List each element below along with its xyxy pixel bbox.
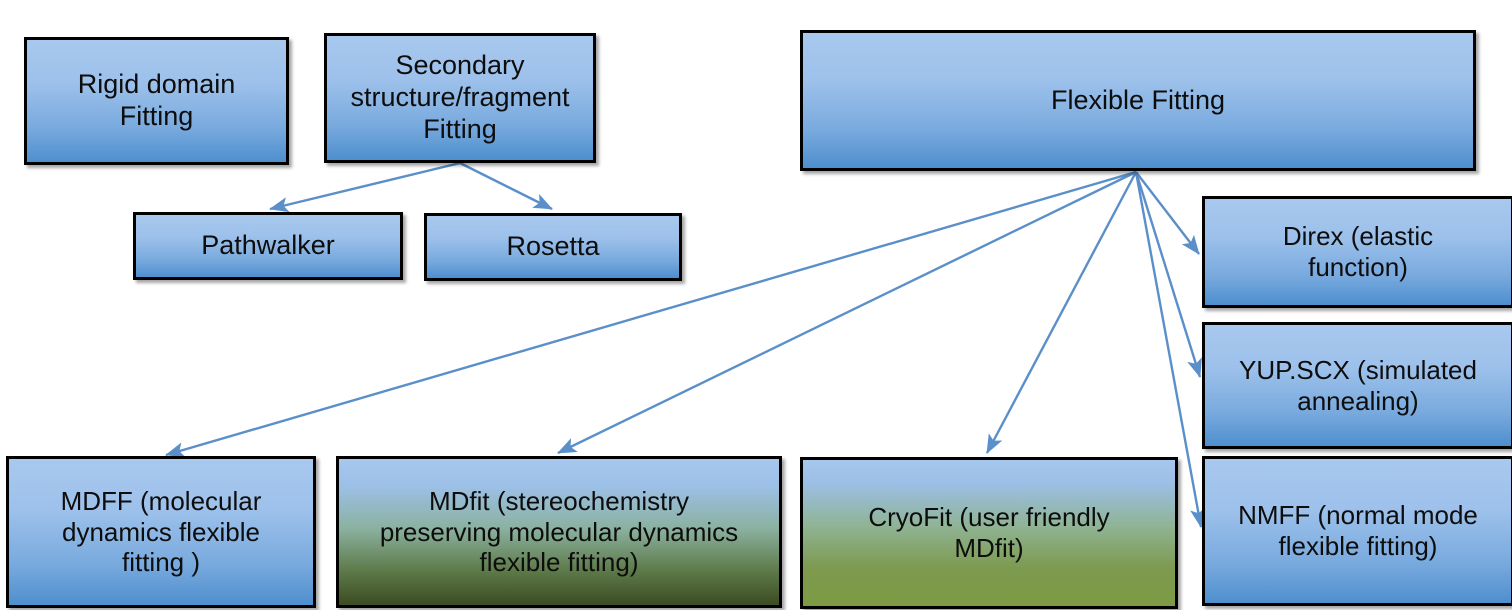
node-label-mdff: MDFF (molecular dynamics flexible fittin… <box>55 486 268 578</box>
node-label-pathwalker: Pathwalker <box>195 230 341 262</box>
node-secondary-structure-fragment-fitting[interactable]: Secondary structure/fragment Fitting <box>324 33 596 163</box>
node-rigid-domain-fitting[interactable]: Rigid domain Fitting <box>24 37 289 165</box>
node-nmff[interactable]: NMFF (normal mode flexible fitting) <box>1202 456 1512 606</box>
node-mdff[interactable]: MDFF (molecular dynamics flexible fittin… <box>6 456 316 608</box>
node-label-direx: Direx (elastic function) <box>1277 221 1439 282</box>
arrow-flexible-to-cryofit <box>987 172 1136 453</box>
node-label-secondary-structure-fragment-fitting: Secondary structure/fragment Fitting <box>344 50 575 146</box>
node-label-cryofit: CryoFit (user friendly MDfit) <box>862 502 1115 563</box>
node-label-yup-scx: YUP.SCX (simulated annealing) <box>1233 355 1483 416</box>
node-label-nmff: NMFF (normal mode flexible fitting) <box>1232 500 1484 561</box>
node-label-rosetta: Rosetta <box>500 231 605 263</box>
node-direx[interactable]: Direx (elastic function) <box>1202 196 1512 308</box>
node-label-flexible-fitting: Flexible Fitting <box>1045 85 1231 117</box>
node-mdfit[interactable]: MDfit (stereochemistry preserving molecu… <box>336 456 782 608</box>
node-rosetta[interactable]: Rosetta <box>424 213 682 281</box>
arrow-secondary-to-pathwalker <box>270 163 460 209</box>
arrow-flexible-to-direx <box>1136 172 1199 254</box>
node-flexible-fitting[interactable]: Flexible Fitting <box>800 30 1476 171</box>
node-yup-scx[interactable]: YUP.SCX (simulated annealing) <box>1202 322 1512 449</box>
node-pathwalker[interactable]: Pathwalker <box>133 212 403 280</box>
diagram-canvas: Rigid domain FittingSecondary structure/… <box>0 0 1512 610</box>
node-label-rigid-domain-fitting: Rigid domain Fitting <box>72 69 242 133</box>
node-cryofit[interactable]: CryoFit (user friendly MDfit) <box>800 457 1178 609</box>
arrow-flexible-to-yupscx <box>1136 172 1200 377</box>
arrow-secondary-to-rosetta <box>460 163 552 209</box>
node-label-mdfit: MDfit (stereochemistry preserving molecu… <box>374 486 744 578</box>
